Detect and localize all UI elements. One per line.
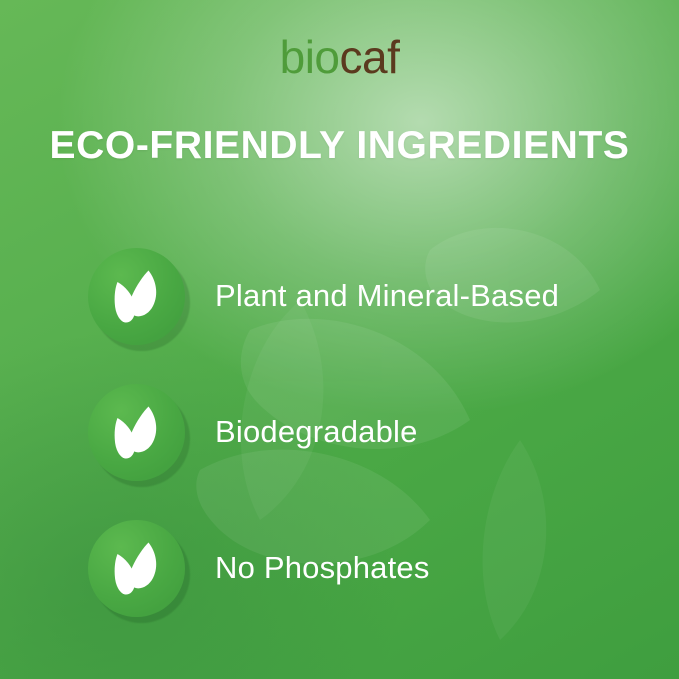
feature-label: No Phosphates [215, 550, 430, 586]
eco-friendly-ingredients-poster: biocaf ECO-FRIENDLY INGREDIENTS Plant an… [0, 0, 679, 679]
list-item: No Phosphates [88, 500, 648, 636]
brand-logo-bio: bio [280, 31, 340, 83]
brand-logo-caf: caf [340, 31, 400, 83]
list-item: Biodegradable [88, 364, 648, 500]
brand-logo: biocaf [0, 34, 679, 80]
list-item: Plant and Mineral-Based [88, 228, 648, 364]
feature-label: Plant and Mineral-Based [215, 278, 559, 314]
leaf-icon [110, 540, 165, 597]
feature-label: Biodegradable [215, 414, 418, 450]
feature-badge [88, 248, 185, 345]
feature-badge [88, 520, 185, 617]
feature-list: Plant and Mineral-Based Biodegradable [88, 228, 648, 636]
feature-badge [88, 384, 185, 481]
leaf-icon [110, 404, 165, 461]
page-title: ECO-FRIENDLY INGREDIENTS [0, 125, 679, 168]
leaf-icon [110, 268, 165, 325]
